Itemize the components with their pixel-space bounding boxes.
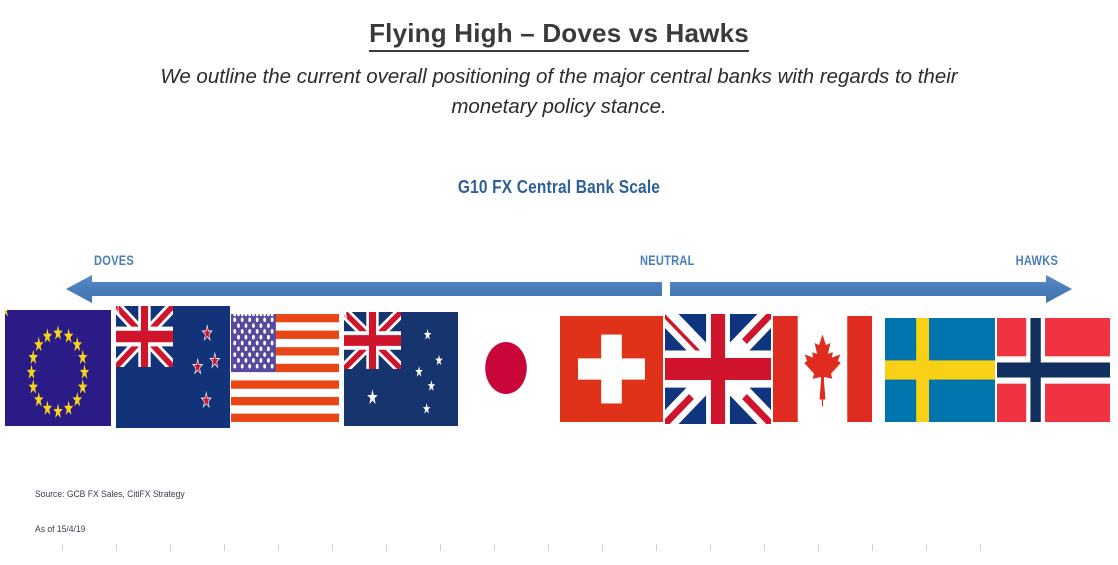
flag-scale-row	[0, 0, 1118, 565]
tick-mark	[62, 544, 63, 551]
bottom-tick-row	[0, 544, 1118, 554]
flag-european-union	[5, 310, 111, 426]
tick-mark	[170, 544, 171, 551]
tick-mark	[224, 544, 225, 551]
tick-mark	[656, 544, 657, 551]
flag-new-zealand	[116, 306, 230, 428]
tick-mark	[980, 544, 981, 551]
as-of-note: As of 15/4/19	[35, 524, 85, 535]
flag-canada	[773, 316, 872, 422]
flag-sweden	[885, 318, 995, 422]
tick-mark	[764, 544, 765, 551]
tick-mark	[440, 544, 441, 551]
flag-japan	[481, 337, 531, 399]
tick-mark	[278, 544, 279, 551]
tick-mark	[818, 544, 819, 551]
flag-norway	[997, 318, 1110, 422]
tick-mark	[332, 544, 333, 551]
tick-mark	[710, 544, 711, 551]
tick-mark	[386, 544, 387, 551]
tick-mark	[494, 544, 495, 551]
flag-switzerland	[560, 316, 663, 422]
tick-mark	[116, 544, 117, 551]
flag-australia	[344, 312, 458, 426]
tick-mark	[548, 544, 549, 551]
tick-mark	[872, 544, 873, 551]
tick-mark	[926, 544, 927, 551]
flag-united-kingdom	[665, 314, 771, 424]
tick-mark	[602, 544, 603, 551]
source-note: Source: GCB FX Sales, CitiFX Strategy	[35, 489, 185, 500]
flag-united-states	[231, 314, 339, 422]
